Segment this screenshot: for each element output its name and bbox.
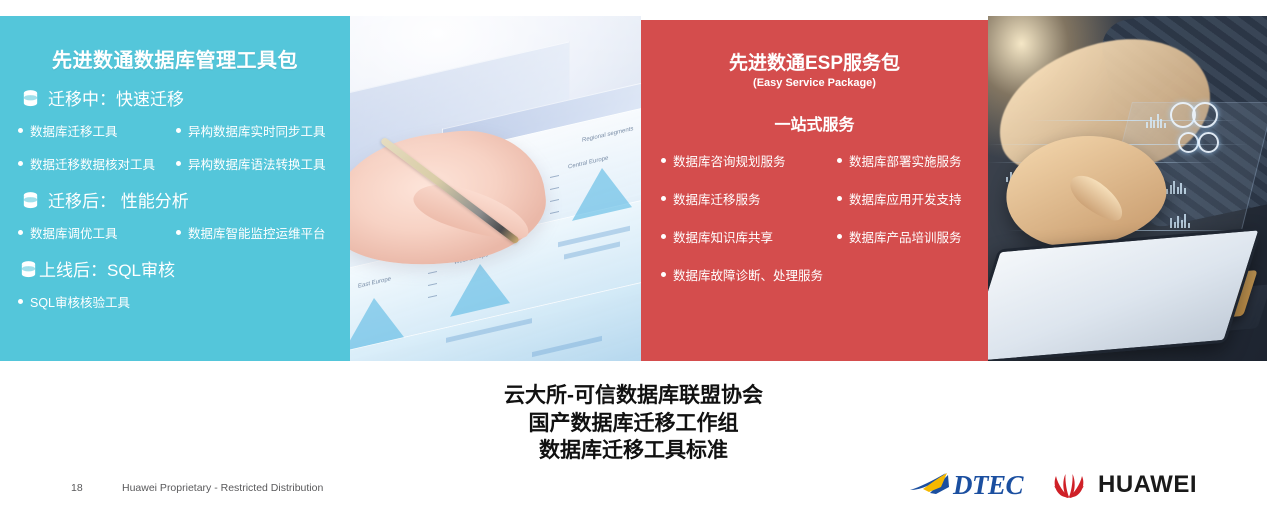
left-section-3-list: SQL审核核验工具 [18, 292, 338, 311]
page-number: 18 [71, 482, 83, 494]
huawei-flower-icon [1049, 471, 1089, 499]
list-item: 数据库故障诊断、处理服务 [661, 265, 972, 284]
list-item: 数据库应用开发支持 [837, 189, 972, 208]
list-item: 数据库迁移服务 [661, 189, 837, 208]
list-item: 数据库迁移工具 [18, 121, 176, 140]
light-streak [1028, 120, 1238, 121]
huawei-logo: HUAWEI [1049, 471, 1197, 499]
bullet-dot-icon [837, 158, 842, 163]
bullet-dot-icon [661, 196, 666, 201]
list-item-label: 数据库应用开发支持 [849, 189, 962, 208]
bullet-dot-icon [176, 230, 181, 235]
ring-icon [1192, 102, 1218, 128]
list-item: 数据迁移数据核对工具 [18, 154, 176, 173]
bullet-dot-icon [176, 128, 181, 133]
confidentiality-notice: Huawei Proprietary - Restricted Distribu… [122, 482, 323, 494]
bullet-dot-icon [661, 272, 666, 277]
list-item-label: 数据迁移数据核对工具 [30, 154, 155, 173]
list-item: 数据库智能监控运维平台 [176, 223, 338, 242]
list-item-label: 数据库迁移服务 [673, 189, 761, 208]
tablet-shape [988, 227, 1262, 361]
list-item: SQL审核核验工具 [18, 292, 338, 311]
ring-icon [1178, 132, 1199, 153]
footer-title-line-2: 国产数据库迁移工作组 [0, 410, 1267, 438]
database-icon [20, 260, 37, 280]
left-section-2-heading: 迁移后： 性能分析 [22, 191, 338, 211]
huawei-wordmark: HUAWEI [1098, 473, 1197, 497]
list-item: 数据库调优工具 [18, 223, 176, 242]
list-item-label: 数据库迁移工具 [30, 121, 118, 140]
footer-title-block: 云大所-可信数据库联盟协会 国产数据库迁移工作组 数据库迁移工具标准 [0, 382, 1267, 465]
right-photo [988, 16, 1267, 361]
footer-title-line-3: 数据库迁移工具标准 [0, 437, 1267, 465]
bullet-dot-icon [18, 299, 23, 304]
left-section-3-label: 上线后：SQL审核 [39, 262, 175, 279]
list-item: 数据库咨询规划服务 [661, 151, 837, 170]
mini-bar-chart-icon [1166, 178, 1186, 194]
bullet-dot-icon [661, 158, 666, 163]
list-item-label: 数据库故障诊断、处理服务 [673, 265, 823, 284]
bullet-dot-icon [176, 161, 181, 166]
middle-photo: Regional segments Central Europe West Eu… [350, 16, 641, 361]
dtec-logo: DTEC [908, 470, 1023, 500]
bullet-dot-icon [837, 234, 842, 239]
left-section-2-list: 数据库调优工具 数据库智能监控运维平台 [18, 223, 338, 242]
right-red-panel: 先进数通ESP服务包 (Easy Service Package) 一站式服务 … [641, 20, 988, 361]
left-panel-title: 先进数通数据库管理工具包 [12, 44, 338, 73]
left-teal-panel: 先进数通数据库管理工具包 迁移中：快速迁移 数据库迁移工具 异构数据库实时同步工… [0, 16, 350, 361]
list-item: 数据库知识库共享 [661, 227, 837, 246]
dtec-arrow-icon [908, 470, 952, 500]
right-panel-title: 先进数通ESP服务包 [657, 48, 972, 75]
list-item-label: 异构数据库语法转换工具 [188, 154, 326, 173]
left-section-1-label: 迁移中：快速迁移 [48, 91, 184, 108]
bullet-dot-icon [837, 196, 842, 201]
logo-row: DTEC HUAWEI [908, 470, 1197, 500]
list-item-label: 数据库产品培训服务 [849, 227, 962, 246]
list-item-label: SQL审核核验工具 [30, 292, 130, 311]
bullet-dot-icon [661, 234, 666, 239]
list-item-label: 数据库咨询规划服务 [673, 151, 786, 170]
left-section-3-heading: 上线后：SQL审核 [20, 260, 338, 280]
bullet-dot-icon [18, 161, 23, 166]
slide-canvas: 先进数通数据库管理工具包 迁移中：快速迁移 数据库迁移工具 异构数据库实时同步工… [0, 0, 1267, 510]
left-section-1-list: 数据库迁移工具 异构数据库实时同步工具 数据迁移数据核对工具 异构数据库语法转换… [18, 121, 338, 173]
list-item-label: 数据库部署实施服务 [849, 151, 962, 170]
right-panel-list: 数据库咨询规划服务 数据库部署实施服务 数据库迁移服务 数据库应用开发支持 数据… [661, 151, 972, 284]
ring-icon [1198, 132, 1219, 153]
mini-bar-chart-icon [1170, 212, 1190, 228]
list-item-label: 异构数据库实时同步工具 [188, 121, 326, 140]
bullet-dot-icon [18, 230, 23, 235]
left-section-2-label: 迁移后： 性能分析 [48, 193, 189, 210]
database-icon [22, 89, 39, 109]
footer-title-line-1: 云大所-可信数据库联盟协会 [0, 382, 1267, 410]
list-item: 数据库产品培训服务 [837, 227, 972, 246]
database-icon [22, 191, 39, 211]
banner-strip: 先进数通数据库管理工具包 迁移中：快速迁移 数据库迁移工具 异构数据库实时同步工… [0, 16, 1267, 361]
right-panel-section-heading: 一站式服务 [657, 111, 972, 135]
dtec-wordmark: DTEC [953, 472, 1023, 499]
list-item-label: 数据库智能监控运维平台 [188, 223, 326, 242]
list-item: 异构数据库语法转换工具 [176, 154, 338, 173]
list-item: 数据库部署实施服务 [837, 151, 972, 170]
list-item-label: 数据库知识库共享 [673, 227, 773, 246]
left-section-1-heading: 迁移中：快速迁移 [22, 89, 338, 109]
list-item: 异构数据库实时同步工具 [176, 121, 338, 140]
right-panel-subtitle: (Easy Service Package) [657, 77, 972, 89]
bullet-dot-icon [18, 128, 23, 133]
list-item-label: 数据库调优工具 [30, 223, 118, 242]
